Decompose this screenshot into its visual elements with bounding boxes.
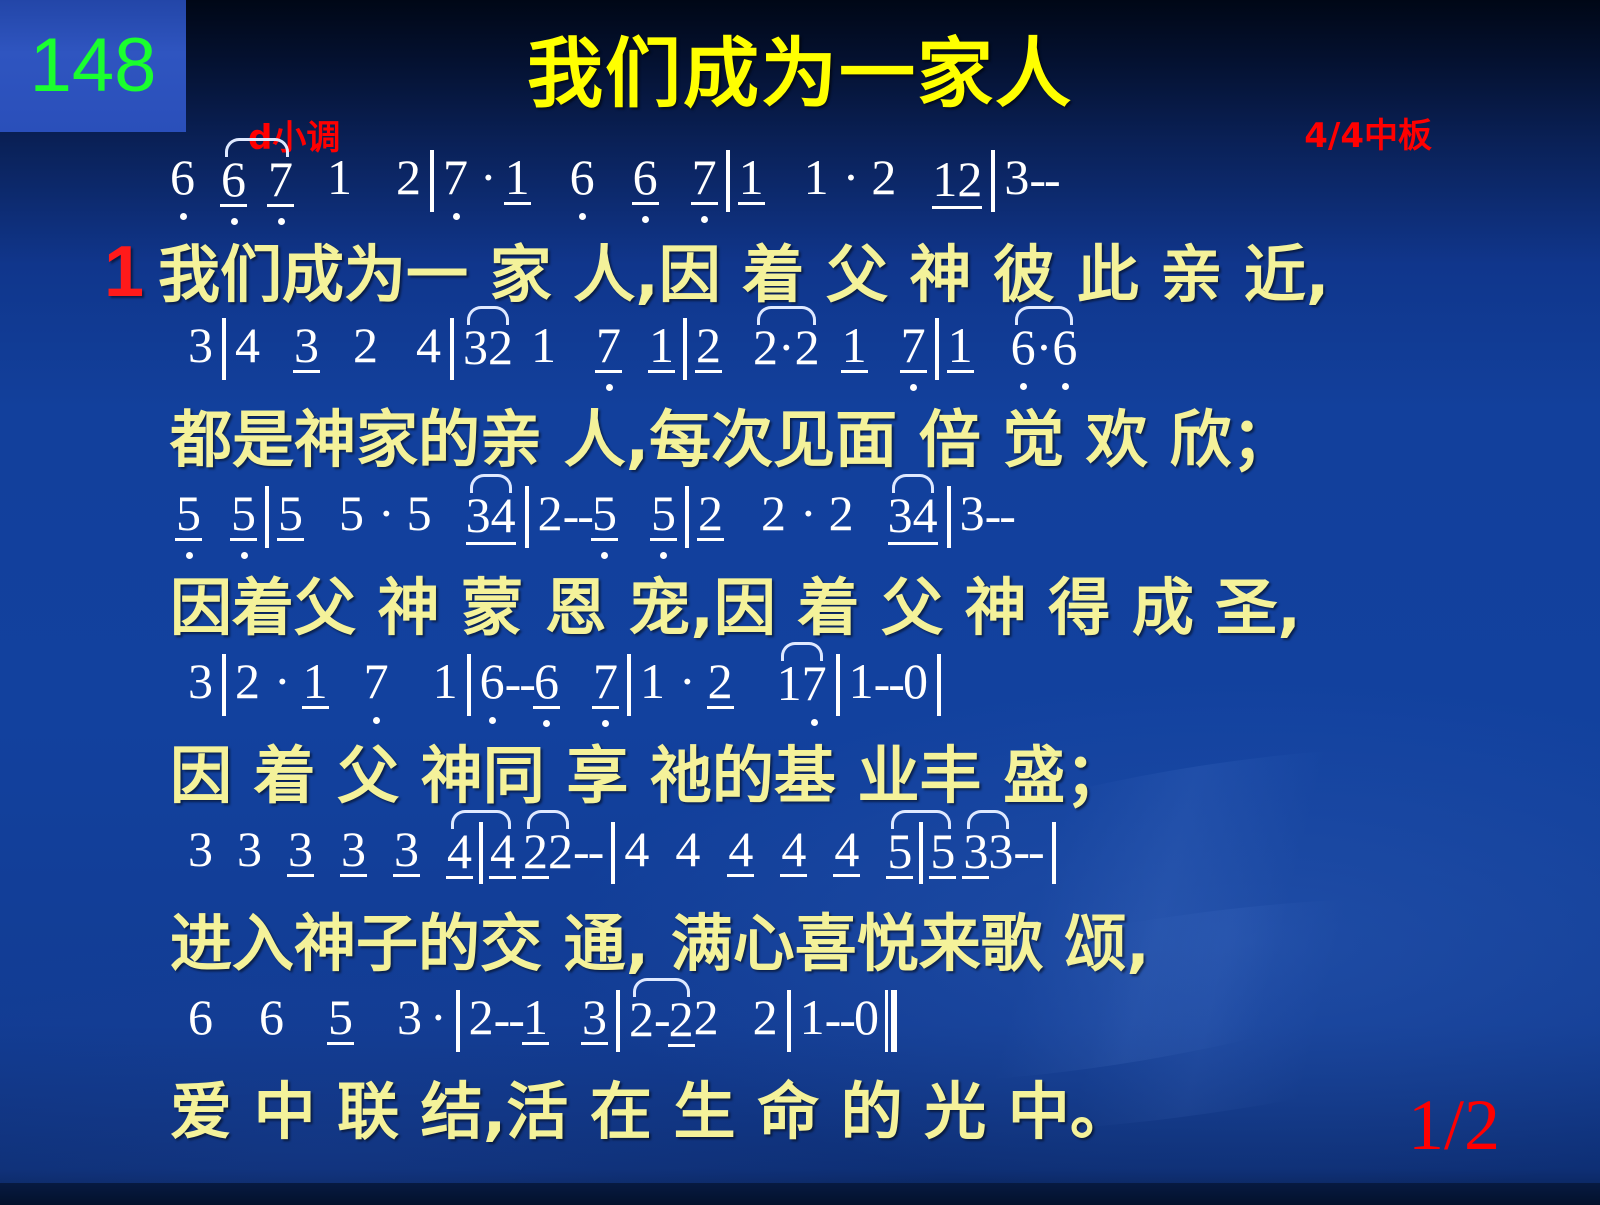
note: 6 [1011,320,1036,374]
barline [222,654,226,716]
score-body: 6 67 1 2 7 · 1 6 6 7 1 1 · 2 12 3-- [0,150,1600,1158]
lyric-row-5: 进入神子的交 通, 满心喜悦来歌 颂, [0,898,1600,990]
note-group: 44 [447,822,515,884]
note-group: 17 [777,654,827,712]
note: 3 [341,822,366,876]
note: 6 [534,654,559,708]
note: 4 [624,822,649,876]
note: 2 [871,150,896,204]
note: 2 [696,318,721,372]
lyric-text: 我们成为一 家 人,因 着 父 神 彼 此 亲 近, [158,238,1329,311]
barline [836,654,840,716]
note: 1 [842,318,867,372]
barline [685,486,689,548]
barline [937,654,941,716]
system-6: 6 6 5 3 · 2-- 1 3 2-2 2 2 1-- 0 爱 中 联 结,… [0,990,1600,1158]
sustain-dashes: -- [563,486,592,544]
note-group: 34 [888,486,938,544]
note: 1 [433,654,458,708]
notation-row-3: 5 5 5 5 · 5 34 2-- 5 5 2 2 · 2 34 3-- [0,486,1600,562]
note: 2 [469,990,494,1044]
augmentation-dot: · [480,150,497,204]
notation-row-2: 3 4 3 2 4 32 1 7 1 2 2·2 1 7 1 6·6 [0,318,1600,394]
barline [787,990,791,1052]
sustain-dashes: -- [494,990,523,1048]
page-title: 我们成为一家人 [0,12,1600,122]
barline [683,318,687,380]
note: 4 [491,488,516,542]
lyric-row-6: 爱 中 联 结,活 在 生 命 的 光 中。 [0,1066,1600,1158]
note: 3 [188,822,213,876]
note: 1 [303,654,328,708]
note: 5 [887,824,912,878]
note: 2 [488,320,513,374]
augmentation-dot: · [430,990,447,1044]
note: 7 [901,318,926,372]
note: 2 [761,486,786,540]
note: 1 [932,152,957,206]
verse-number: 1 [104,232,144,312]
note-group: 32 [463,318,513,376]
note: 1 [804,150,829,204]
note: 3 [1004,150,1029,204]
note-group: 6·6 [1011,318,1078,376]
note-group: 67 [221,150,293,208]
sustain-dashes: -- [985,486,1014,544]
note: 2 [548,824,573,878]
note: 2 [235,654,260,708]
note: 7 [443,150,468,204]
note: 3 [963,824,988,878]
note: 3 [394,822,419,876]
sustain-dashes: -- [825,990,854,1048]
note-group: 34 [466,486,516,544]
barline [919,822,923,884]
note: 7 [268,152,293,206]
note: 3 [188,318,213,372]
note: 3 [288,822,313,876]
final-barline [885,990,900,1064]
note: 2 [957,152,982,206]
note: 2 [669,992,694,1046]
note: 4 [235,318,260,372]
note: 2 [353,318,378,372]
sustain-dashes: -- [874,654,903,712]
note-group: 2·2 [753,318,820,376]
hymn-slide: 148 我们成为一家人 d小调 4/4中板 1/2 6 67 1 2 7 · 1… [0,0,1600,1205]
note: 1 [531,318,556,372]
barline [265,486,269,548]
barline [726,150,730,212]
note: 5 [930,824,955,878]
note: 3 [237,822,262,876]
sustain-dashes: -- [573,822,602,880]
sustain-dashes: - [654,990,669,1048]
note: 1 [777,656,802,710]
augmentation-dot: · [679,654,696,708]
note: 5 [339,486,364,540]
note: 2 [753,320,778,374]
note: 3 [888,488,913,542]
note-group: 22 [523,822,573,880]
bottom-bar [0,1183,1600,1205]
lyric-row-1: 1我们成为一 家 人,因 着 父 神 彼 此 亲 近, [0,226,1600,318]
note: 2 [538,486,563,540]
barline [611,822,615,884]
note: 4 [490,824,515,878]
note: 7 [692,150,717,204]
system-1: 6 67 1 2 7 · 1 6 6 7 1 1 · 2 12 3-- [0,150,1600,318]
note: 2 [753,990,778,1044]
note: 5 [231,486,256,540]
note: 2 [396,150,421,204]
note: 1 [800,990,825,1044]
system-2: 3 4 3 2 4 32 1 7 1 2 2·2 1 7 1 6·6 [0,318,1600,486]
lyric-row-4: 因 着 父 神同 享 祂的基 业丰 盛； [0,730,1600,822]
note: 3 [582,990,607,1044]
note: 2 [694,990,719,1044]
note: 2 [795,320,820,374]
note: 5 [592,486,617,540]
barline [947,486,951,548]
rest: 0 [854,990,879,1044]
augmentation-dot: · [378,486,395,540]
note: 2 [698,486,723,540]
barline [1052,822,1056,884]
note: 6 [221,152,246,206]
note-group: 55 [887,822,955,884]
note: 6 [170,150,195,204]
note-group: 33 [963,822,1013,880]
note: 7 [802,656,827,710]
note: 4 [781,822,806,876]
note: 2 [829,486,854,540]
sustain-dashes: -- [505,654,534,712]
note: 5 [651,486,676,540]
note: 2 [523,824,548,878]
barline [935,318,939,380]
augmentation-dot: · [1036,320,1053,374]
note: 3 [188,654,213,708]
note: 3 [463,320,488,374]
note: 1 [649,318,674,372]
note: 6 [259,990,284,1044]
sustain-dashes: -- [1029,150,1058,208]
system-4: 3 2 · 1 7 1 6-- 6 7 1 · 2 17 1-- 0 [0,654,1600,822]
system-5: 3 3 3 3 3 44 22 -- 4 4 4 4 4 55 33 -- [0,822,1600,990]
barline [450,318,454,380]
augmentation-dot: · [800,486,817,540]
note: 3 [294,318,319,372]
barline [430,150,434,212]
note: 3 [988,824,1013,878]
notation-row-6: 6 6 5 3 · 2-- 1 3 2-2 2 2 1-- 0 [0,990,1600,1066]
lyric-row-3: 因着父 神 蒙 恩 宠,因 着 父 神 得 成 圣, [0,562,1600,654]
note: 4 [913,488,938,542]
note: 5 [176,486,201,540]
note: 1 [640,654,665,708]
barline [627,654,631,716]
note: 1 [523,990,548,1044]
note: 4 [447,824,472,878]
note: 1 [948,318,973,372]
barline [222,318,226,380]
note: 6 [570,150,595,204]
barline [456,990,460,1052]
note: 1 [849,654,874,708]
note: 3 [960,486,985,540]
note: 4 [416,318,441,372]
note: 4 [834,822,859,876]
note: 2 [708,654,733,708]
note: 6 [1052,320,1077,374]
note: 7 [593,654,618,708]
note: 4 [728,822,753,876]
notation-row-4: 3 2 · 1 7 1 6-- 6 7 1 · 2 17 1-- 0 [0,654,1600,730]
barline [616,990,620,1052]
note: 6 [188,990,213,1044]
barline [525,486,529,548]
barline [991,150,995,212]
barline [479,822,483,884]
lyric-row-2: 都是神家的亲 人,每次见面 倍 觉 欢 欣； [0,394,1600,486]
system-3: 5 5 5 5 · 5 34 2-- 5 5 2 2 · 2 34 3-- [0,486,1600,654]
note: 1 [327,150,352,204]
note: 6 [480,654,505,708]
note: 1 [505,150,530,204]
augmentation-dot: · [274,654,291,708]
note-group: 12 [932,150,982,208]
augmentation-dot: · [843,150,860,204]
note: 1 [739,150,764,204]
note: 5 [278,486,303,540]
rest: 0 [903,654,928,708]
barline [467,654,471,716]
note: 3 [466,488,491,542]
note: 7 [364,654,389,708]
note: 5 [407,486,432,540]
sustain-dashes: -- [1013,822,1042,880]
notation-row-5: 3 3 3 3 3 44 22 -- 4 4 4 4 4 55 33 -- [0,822,1600,898]
note: 4 [675,822,700,876]
note-group: 2-2 [629,990,694,1048]
note: 2 [629,992,654,1046]
note: 3 [397,990,422,1044]
augmentation-dot: · [778,320,795,374]
note: 5 [328,990,353,1044]
notation-row-1: 6 67 1 2 7 · 1 6 6 7 1 1 · 2 12 3-- [0,150,1600,226]
note: 6 [633,150,658,204]
note: 7 [596,318,621,372]
